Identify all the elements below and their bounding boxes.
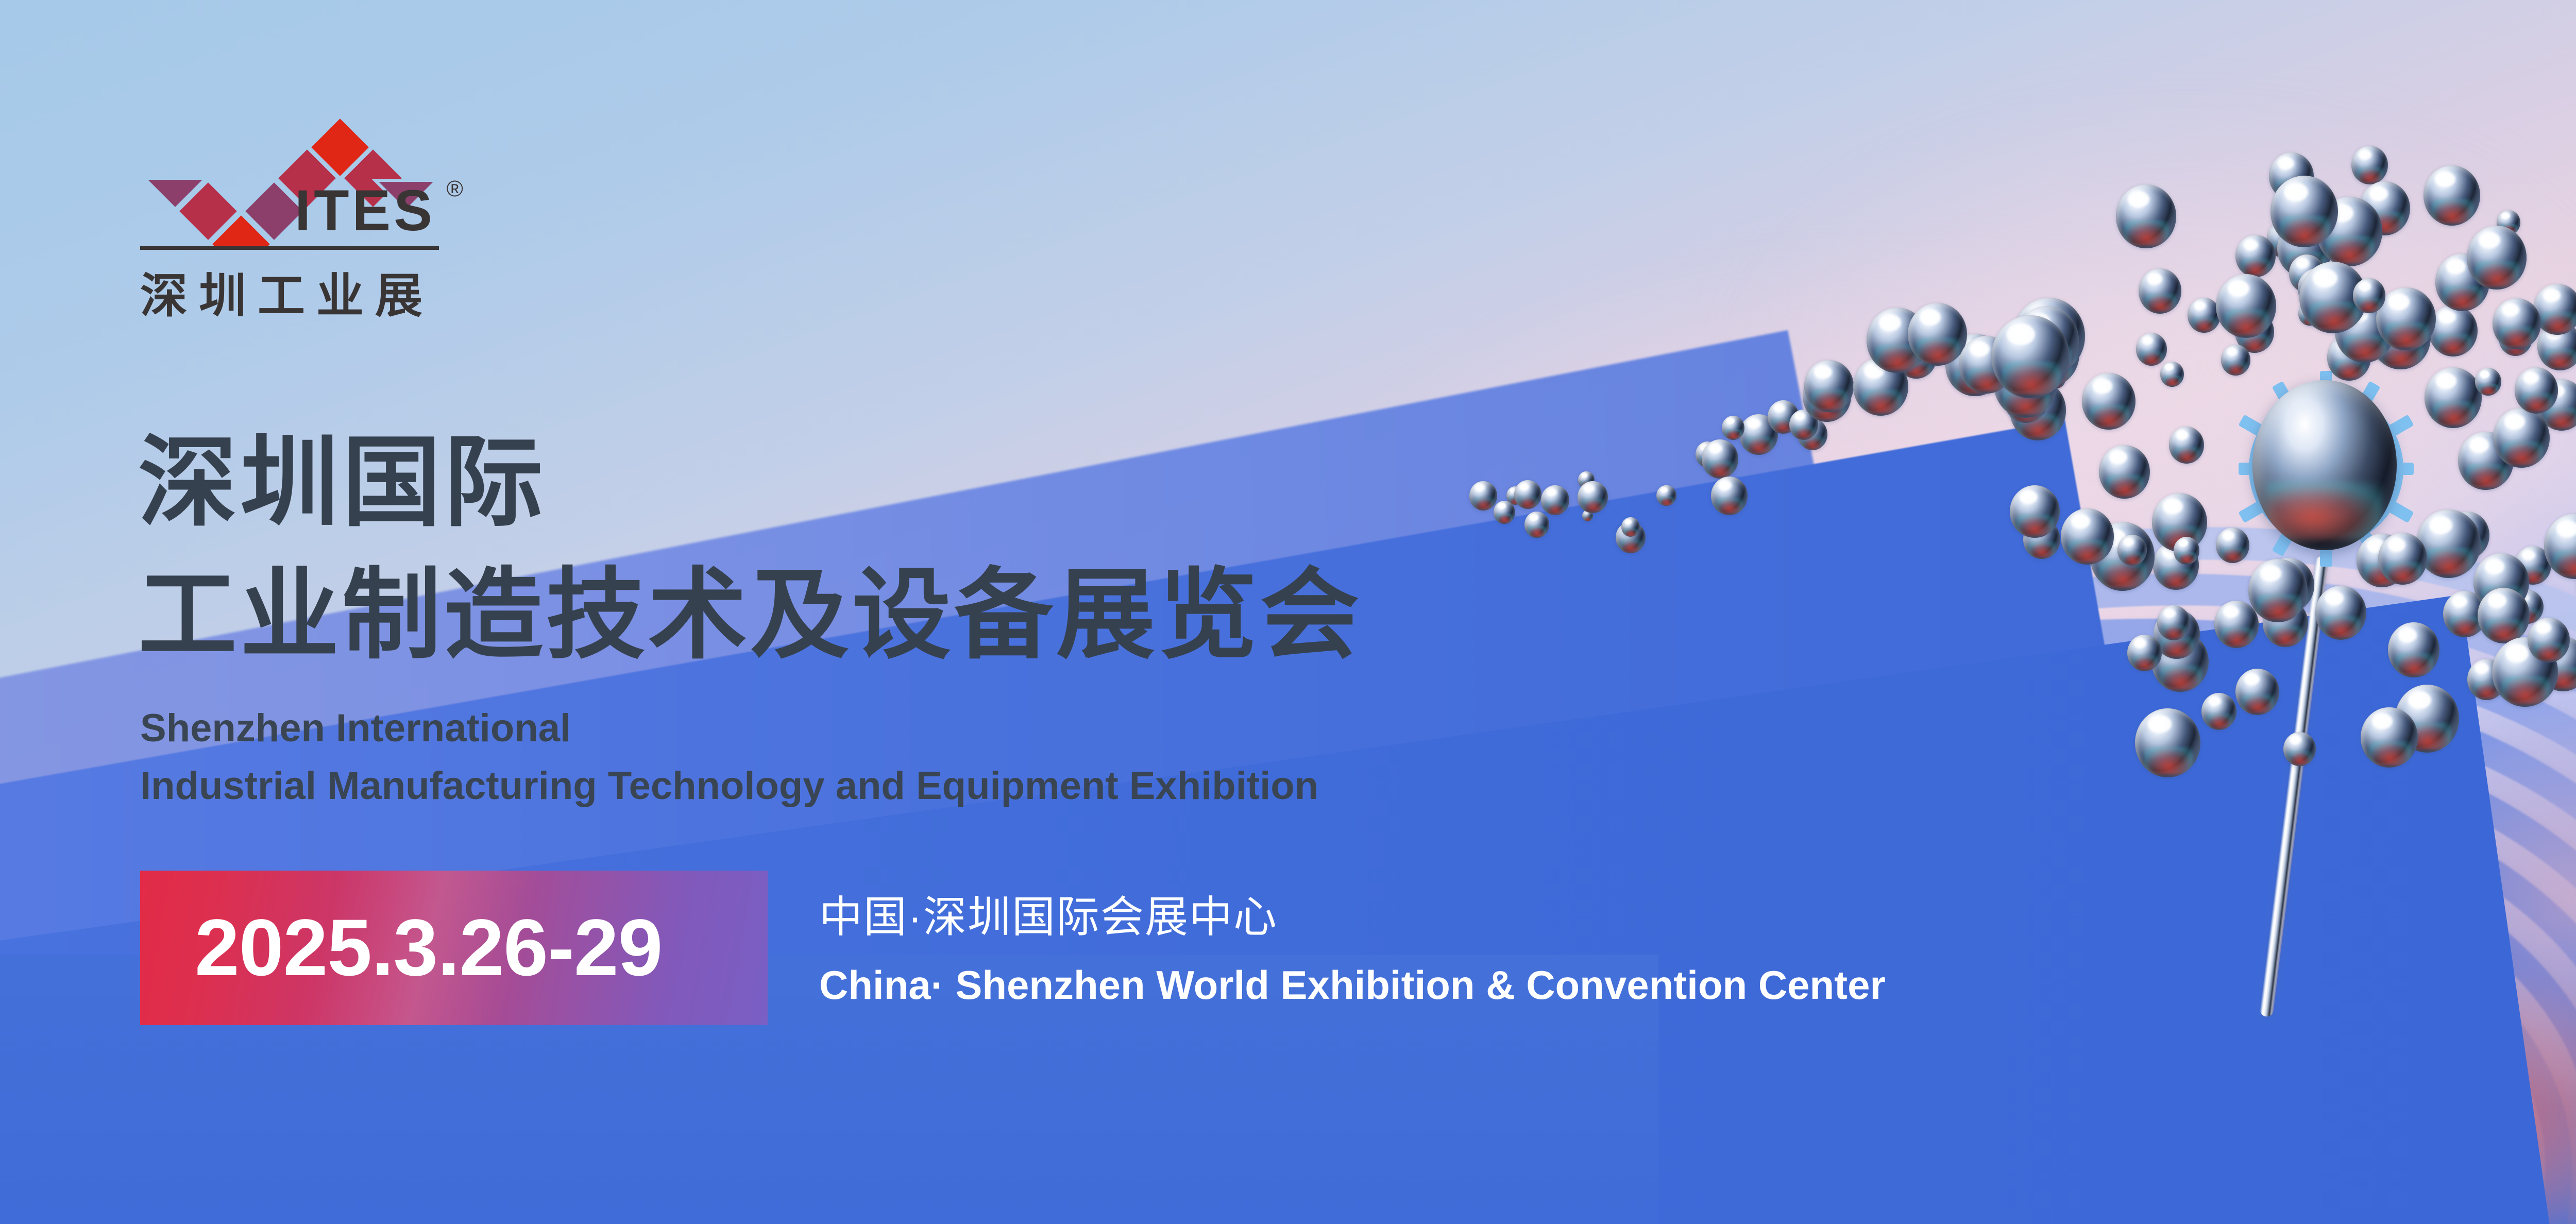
chrome-bubble [2082, 373, 2136, 430]
chrome-bubble [1702, 439, 1738, 478]
event-date-text: 2025.3.26-29 [195, 902, 662, 994]
chrome-bubble [2351, 146, 2388, 184]
ites-wordmark: ITES [295, 178, 435, 243]
chrome-bubble [2378, 533, 2427, 585]
chrome-bubble [2429, 305, 2478, 356]
chrome-bubble [1804, 360, 1853, 412]
chrome-bubble [2214, 601, 2259, 648]
logo-divider-rule [140, 246, 439, 250]
chrome-bubble [1494, 501, 1515, 524]
chrome-bubble [2061, 508, 2114, 565]
chrome-bubble [2475, 368, 2501, 396]
chrome-bubble [1541, 485, 1569, 515]
title-cn-line-1: 深圳国际 [138, 427, 546, 538]
chrome-bubble [2139, 268, 2181, 314]
chrome-bubble [2116, 184, 2176, 248]
event-banner-poster: ITES ® 深圳工业展 深圳国际 工业制造技术及设备展览会 Shenzhen … [0, 0, 2576, 1224]
chrome-bubble [2478, 588, 2530, 643]
chrome-bubble [2283, 732, 2316, 767]
chrome-bubble [2099, 445, 2150, 499]
chrome-bubble [2117, 535, 2147, 566]
registered-trademark-icon: ® [447, 176, 463, 202]
chrome-bubble [2216, 274, 2276, 338]
chrome-bubble [2235, 235, 2275, 277]
title-cn-line-2: 工业制造技术及设备展览会 [138, 549, 1362, 681]
chrome-bubble [2425, 367, 2482, 428]
chrome-bubble [2270, 176, 2338, 247]
venue-name-en: China· Shenzhen World Exhibition & Conve… [819, 962, 1886, 1009]
chrome-bubble [2157, 605, 2190, 640]
event-date-banner: 2025.3.26-29 [140, 871, 768, 1025]
chrome-bubble [1578, 481, 1607, 513]
chrome-bubble [2416, 509, 2481, 578]
chrome-bubble [2528, 618, 2570, 662]
chrome-bubble [2467, 226, 2527, 290]
chrome-bubble [2216, 528, 2249, 563]
chrome-bubble [2127, 635, 2162, 671]
chrome-bubble [2160, 362, 2184, 387]
chrome-bubble [2361, 707, 2418, 768]
logo-chinese-name: 深圳工业展 [140, 258, 434, 326]
chrome-bubble [2169, 427, 2204, 464]
chrome-bubble [1621, 517, 1640, 537]
chrome-bubble [2221, 345, 2250, 376]
subtitle-en-line-2: Industrial Manufacturing Technology and … [140, 757, 1318, 815]
chrome-bubble [2136, 333, 2167, 366]
chrome-bubble [2235, 669, 2279, 715]
chrome-bubble [2248, 559, 2308, 622]
chrome-bubble [2493, 408, 2549, 468]
chrome-bubble [2424, 165, 2480, 226]
dandelion-core-sphere [2252, 380, 2397, 550]
ites-logo[interactable]: ITES ® 深圳工业展 [140, 117, 449, 334]
chrome-bubble [1991, 315, 2070, 398]
chrome-bubble [2174, 537, 2200, 565]
venue-block: 中国·深圳国际会展中心 China· Shenzhen World Exhibi… [819, 891, 1886, 1009]
page-subtitle: Shenzhen International Industrial Manufa… [140, 700, 1318, 815]
chrome-bubble [1711, 477, 1748, 515]
chrome-bubble [2135, 708, 2200, 778]
chrome-bubble [1514, 480, 1541, 509]
chrome-bubble [2515, 367, 2558, 414]
chrome-bubble [1908, 303, 1967, 366]
chrome-bubble [1524, 512, 1549, 538]
chrome-bubble [1722, 416, 1744, 440]
chrome-bubble [2388, 622, 2440, 677]
page-title: 深圳国际 工业制造技术及设备展览会 [138, 416, 1362, 682]
chrome-bubble [2010, 485, 2060, 538]
chrome-bubble [1656, 485, 1676, 506]
chrome-bubble [1469, 481, 1498, 511]
chrome-bubble [2493, 298, 2541, 350]
chrome-bubble [2315, 586, 2366, 640]
subtitle-en-line-1: Shenzhen International [140, 700, 1318, 757]
chrome-bubble [2353, 278, 2385, 313]
chrome-bubble [2201, 693, 2236, 730]
venue-name-cn: 中国·深圳国际会展中心 [819, 891, 1886, 943]
